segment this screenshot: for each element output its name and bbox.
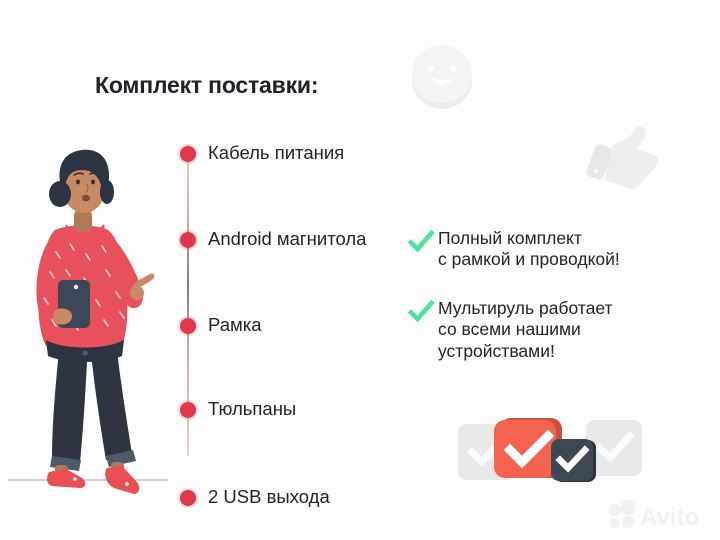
list-item-label: Тюльпаны bbox=[208, 399, 296, 418]
check-mark-icon bbox=[408, 229, 434, 255]
benefit-item: Полный комплект с рамкой и проводкой! bbox=[408, 228, 620, 271]
bullet-dot-icon bbox=[180, 146, 196, 162]
list-item-label: Рамка bbox=[208, 315, 262, 334]
promo-card: Комплект поставки: Кабель питания Androi… bbox=[0, 0, 720, 540]
bullet-dot-icon bbox=[180, 402, 196, 418]
list-item-label: Кабель питания bbox=[208, 143, 344, 162]
bullet-dot-icon bbox=[180, 232, 196, 248]
bullet-dot-icon bbox=[180, 318, 196, 334]
check-mark-icon bbox=[408, 299, 434, 325]
list-item-label: Android магнитола bbox=[208, 229, 366, 248]
bullet-dot-icon bbox=[180, 490, 196, 506]
smiley-face-icon bbox=[406, 41, 478, 113]
checkbox-stack-icon bbox=[456, 412, 644, 492]
benefit-text: Полный комплект с рамкой и проводкой! bbox=[438, 228, 620, 271]
avito-watermark-label: Avito bbox=[640, 504, 699, 531]
benefit-text: Мультируль работает со всеми нашими устр… bbox=[438, 298, 613, 362]
illustration-woman-pointing bbox=[8, 112, 168, 522]
avito-watermark: Avito bbox=[606, 498, 708, 534]
thumbs-up-icon bbox=[578, 113, 668, 209]
page-title: Комплект поставки: bbox=[95, 72, 318, 99]
list-item-label: 2 USB выхода bbox=[208, 487, 330, 506]
benefit-item: Мультируль работает со всеми нашими устр… bbox=[408, 298, 613, 362]
